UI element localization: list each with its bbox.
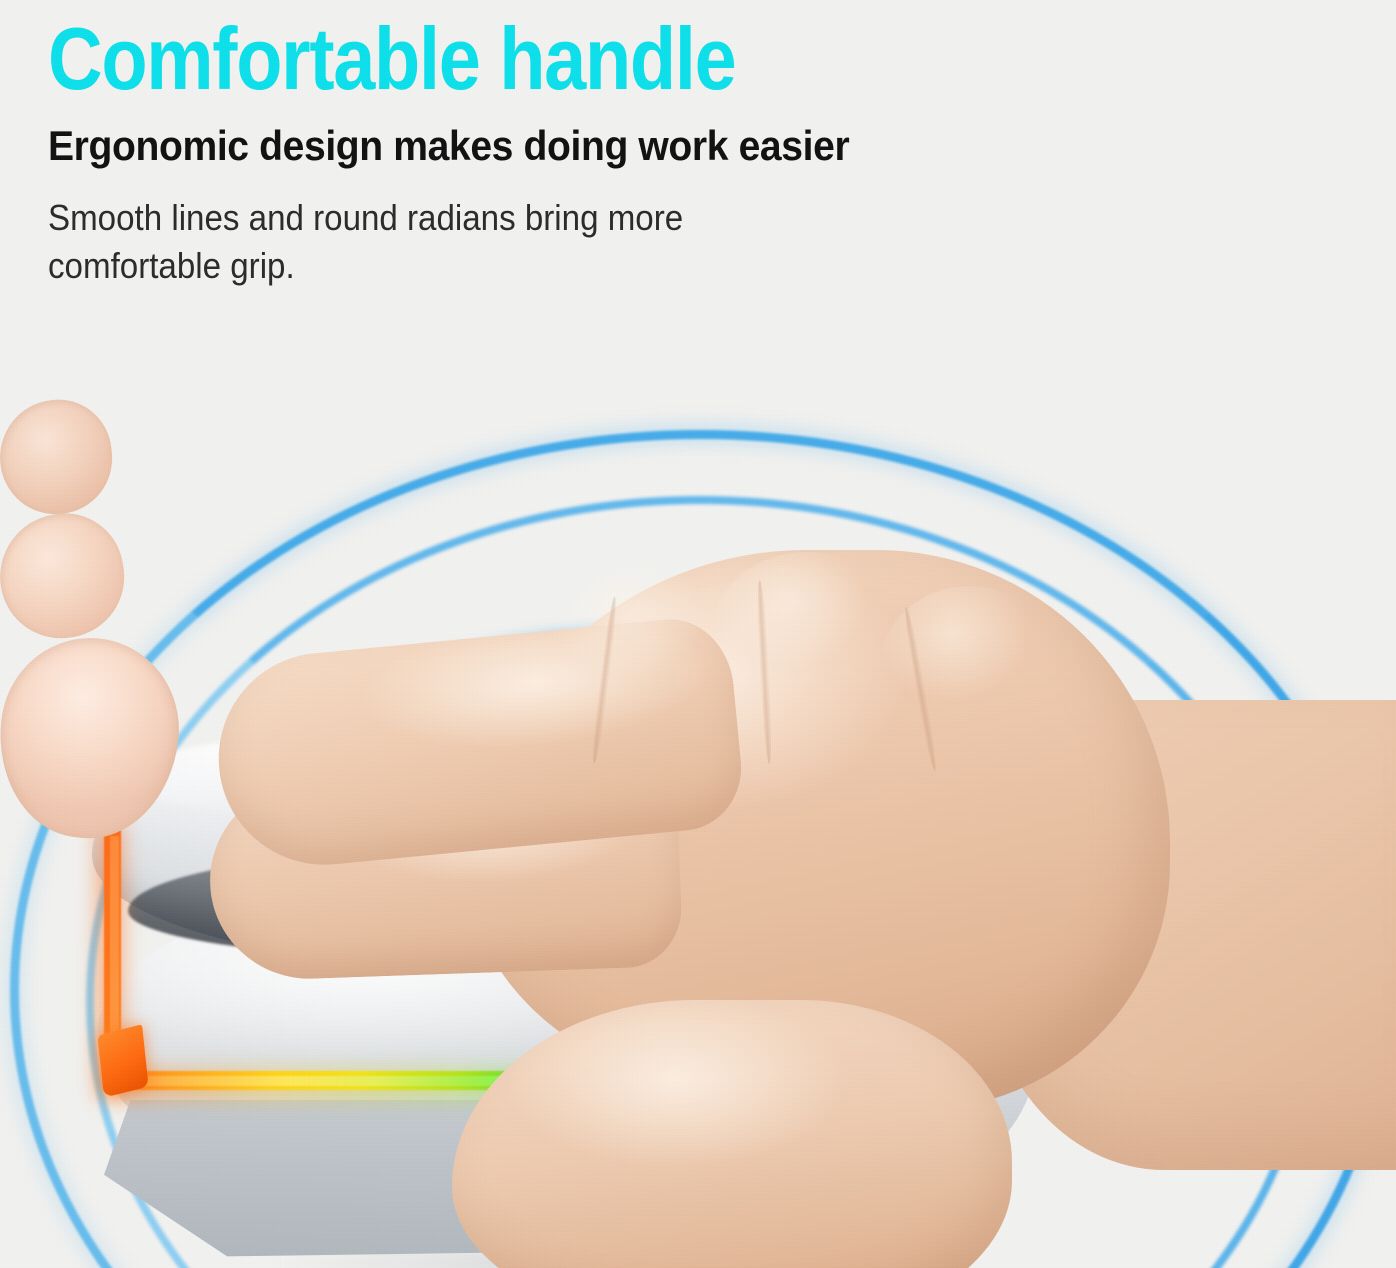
body-copy: Smooth lines and round radians bring mor… bbox=[48, 194, 841, 289]
thumb bbox=[452, 1000, 1012, 1268]
product-feature-banner: Comfortable handle Ergonomic design make… bbox=[0, 0, 1396, 1268]
index-fingernail bbox=[0, 504, 134, 648]
middle-fingernail bbox=[0, 394, 118, 519]
knuckle-index bbox=[556, 570, 736, 720]
hand-gripping-mouse bbox=[0, 400, 1396, 1268]
body-copy-line-2: comfortable grip. bbox=[48, 242, 841, 290]
body-copy-line-1: Smooth lines and round radians bring mor… bbox=[48, 194, 841, 242]
page-title: Comfortable handle bbox=[48, 16, 789, 102]
knuckle-middle bbox=[712, 552, 902, 712]
subheading: Ergonomic design makes doing work easier bbox=[48, 124, 849, 168]
product-photo bbox=[0, 400, 1396, 1268]
thumbnail bbox=[0, 629, 188, 847]
copy-block: Comfortable handle Ergonomic design make… bbox=[48, 16, 910, 289]
